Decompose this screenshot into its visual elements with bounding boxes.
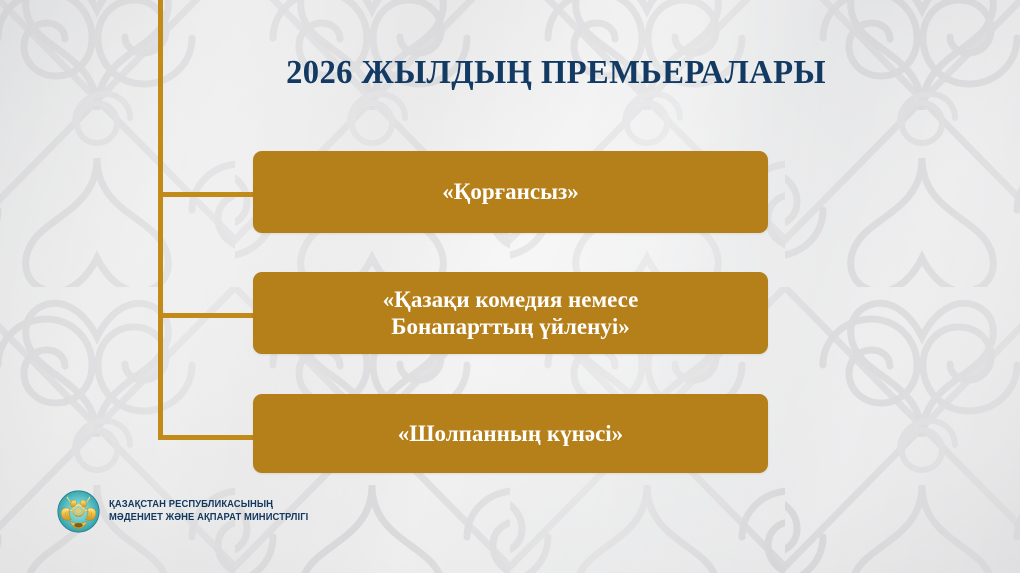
premiere-card-3[interactable]: «Шолпанның күнәсі» xyxy=(253,394,768,473)
presentation-slide: 2026 ЖЫЛДЫҢ ПРЕМЬЕРАЛАРЫ «Қорғансыз» «Қа… xyxy=(0,0,1020,573)
premiere-card-1[interactable]: «Қорғансыз» xyxy=(253,151,768,233)
ministry-logo-text: ҚАЗАҚСТАН РЕСПУБЛИКАСЫНЫҢ МӘДЕНИЕТ ЖӘНЕ … xyxy=(109,499,308,525)
premiere-card-2[interactable]: «Қазақи комедия немесе Бонапарттың үйлен… xyxy=(253,272,768,354)
premiere-card-1-line1: «Қорғансыз» xyxy=(442,178,579,205)
ministry-logo-line1: ҚАЗАҚСТАН РЕСПУБЛИКАСЫНЫҢ xyxy=(109,499,308,512)
kazakhstan-coat-of-arms-icon xyxy=(57,490,100,533)
slide-title: 2026 ЖЫЛДЫҢ ПРЕМЬЕРАЛАРЫ xyxy=(191,54,921,92)
premiere-card-2-line2: Бонапарттың үйленуі» xyxy=(383,313,639,340)
ministry-logo-line2: МӘДЕНИЕТ ЖӘНЕ АҚПАРАТ МИНИСТРЛІГІ xyxy=(109,512,308,525)
premiere-card-2-line1: «Қазақи комедия немесе xyxy=(383,286,639,313)
premiere-card-3-line1: «Шолпанның күнәсі» xyxy=(398,420,623,447)
ministry-logo: ҚАЗАҚСТАН РЕСПУБЛИКАСЫНЫҢ МӘДЕНИЕТ ЖӘНЕ … xyxy=(57,490,321,533)
